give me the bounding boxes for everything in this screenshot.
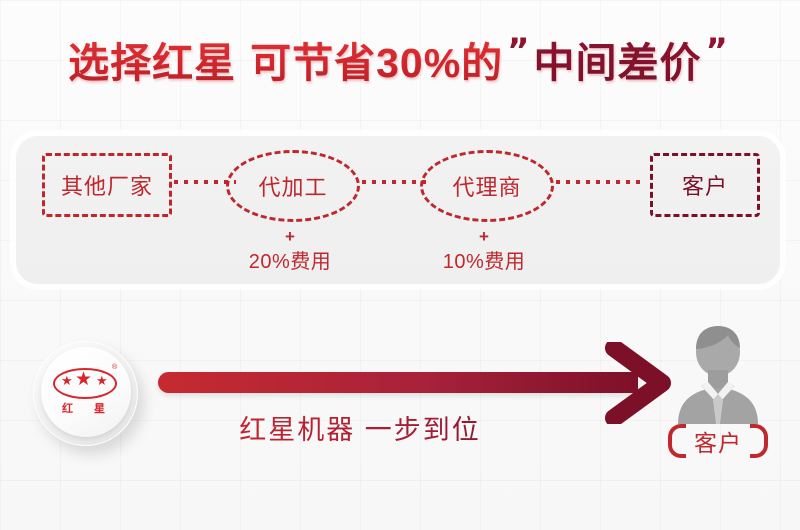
title-highlight: 中间差价 (534, 29, 702, 89)
slogan-text: 红星机器 一步到位 (150, 408, 570, 447)
title-part1: 选择红星 (68, 29, 236, 89)
star-right-icon: ★ (96, 374, 108, 387)
chain-fee-plus-oem: + (226, 228, 354, 245)
customer-label-group: 客户 (650, 424, 786, 458)
page-title: 选择红星 可节省30%的 ” 中间差价 ” (0, 26, 800, 92)
chain-fee-oem: 20%费用 (206, 252, 374, 272)
customer-avatar-icon (663, 316, 773, 426)
logo-mark: ★ ★ ★ ® 红 星 (49, 364, 123, 420)
chain-node-label: 代加工 (258, 170, 327, 202)
star-center-icon: ★ (75, 370, 92, 389)
chain-connector-2 (362, 180, 428, 184)
chain-node-label: 其他厂家 (61, 169, 153, 201)
chain-node-label: 代理商 (452, 170, 521, 202)
chain-node-customer: 客户 (650, 153, 760, 217)
chain-connector-3 (556, 180, 646, 184)
customer-label-text: 客户 (694, 424, 742, 458)
chain-node-other-factory: 其他厂家 (42, 153, 172, 217)
registered-trademark-icon: ® (112, 364, 117, 371)
logo-inner-disc: ★ ★ ★ ® 红 星 (41, 347, 131, 437)
title-part2: 可节省30%的 (250, 29, 503, 89)
chain-node-agent: 代理商 (420, 150, 554, 222)
chain-node-label: 客户 (682, 169, 728, 201)
supply-chain-card: 其他厂家 代加工 + 20%费用 代理商 + 10%费用 客户 (16, 136, 780, 284)
chain-fee-agent: 10%费用 (400, 252, 568, 272)
quote-open-icon: ” (503, 31, 533, 71)
poster-canvas: 选择红星 可节省30%的 ” 中间差价 ” 其他厂家 代加工 + 20%费用 代… (0, 0, 800, 530)
star-left-icon: ★ (61, 374, 73, 387)
flow-arrow-shaft (158, 372, 638, 393)
hongxing-logo-badge: ★ ★ ★ ® 红 星 (33, 341, 138, 446)
bracket-right-icon (750, 424, 768, 458)
bracket-left-icon (668, 424, 686, 458)
logo-char-xing: 星 (94, 400, 105, 416)
chain-node-oem: 代加工 (226, 150, 360, 222)
quote-close-icon: ” (702, 31, 732, 71)
chain-fee-plus-agent: + (420, 228, 548, 245)
logo-char-hong: 红 (62, 400, 73, 416)
